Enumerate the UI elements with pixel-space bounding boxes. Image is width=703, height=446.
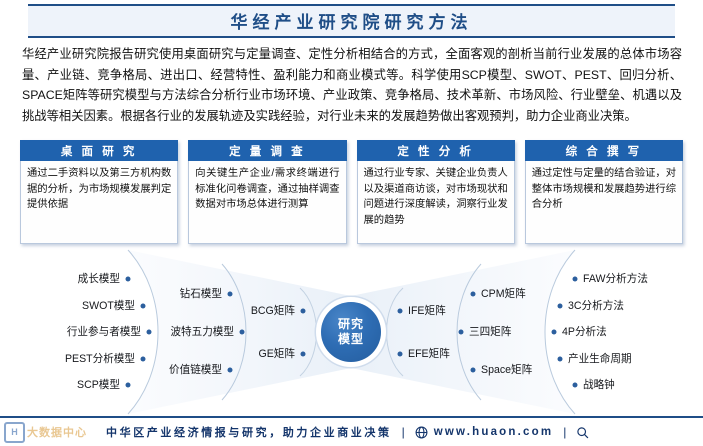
node-inner-right-3[interactable]: Space矩阵 <box>481 364 532 376</box>
title-rule-top <box>28 4 675 6</box>
method-card-desk-research[interactable]: 桌 面 研 究 通过二手资料以及第三方机构数据的分析，为市场规模发展判定提供依据 <box>20 140 178 244</box>
node-dot <box>147 330 152 335</box>
hub-label-line1: 研究 <box>338 317 364 332</box>
footer-bar: H 大数据中心 中华区产业经济情报与研究，助力企业商业决策 | www.huao… <box>0 416 703 446</box>
card-body: 通过行业专家、关键企业负责人以及渠道商访谈，对市场现状和问题进行深度解读，洞察行… <box>357 161 515 244</box>
node-core-right-2[interactable]: EFE矩阵 <box>408 348 450 360</box>
card-body: 通过二手资料以及第三方机构数据的分析，为市场规模发展判定提供依据 <box>20 161 178 244</box>
node-inner-left-2[interactable]: 波特五力模型 <box>170 326 234 338</box>
node-dot <box>141 357 146 362</box>
node-dot <box>301 352 306 357</box>
node-outer-right-5[interactable]: 战略钟 <box>583 379 615 391</box>
node-dot <box>228 368 233 373</box>
node-outer-left-2[interactable]: SWOT模型 <box>82 300 135 312</box>
card-title: 综 合 撰 写 <box>525 140 683 161</box>
card-body: 通过定性与定量的结合验证，对整体市场规模和发展趋势进行综合分析 <box>525 161 683 244</box>
node-dot <box>240 330 245 335</box>
node-dot <box>558 304 563 309</box>
card-title: 定 性 分 析 <box>357 140 515 161</box>
node-dot <box>398 352 403 357</box>
node-dot <box>558 357 563 362</box>
title-rule-bottom <box>28 36 675 38</box>
node-dot <box>573 383 578 388</box>
card-body: 向关键生产企业/需求终端进行标准化问卷调查，通过抽样调查数据对市场总体进行测算 <box>188 161 346 244</box>
node-outer-left-4[interactable]: PEST分析模型 <box>65 353 135 365</box>
footer-separator-2: | <box>563 425 566 439</box>
node-dot <box>459 330 464 335</box>
method-card-quantitative-survey[interactable]: 定 量 调 查 向关键生产企业/需求终端进行标准化问卷调查，通过抽样调查数据对市… <box>188 140 346 244</box>
footer-url[interactable]: www.huaon.com <box>434 426 554 438</box>
node-inner-left-3[interactable]: 价值链模型 <box>169 364 222 376</box>
node-dot <box>471 292 476 297</box>
node-dot <box>398 309 403 314</box>
node-outer-left-1[interactable]: 成长模型 <box>78 273 120 285</box>
node-core-right-1[interactable]: IFE矩阵 <box>408 305 446 317</box>
globe-icon <box>415 426 428 439</box>
node-dot <box>471 368 476 373</box>
node-inner-right-2[interactable]: 三四矩阵 <box>469 326 511 338</box>
node-inner-right-1[interactable]: CPM矩阵 <box>481 288 526 300</box>
footer-tagline: 中华区产业经济情报与研究，助力企业商业决策 <box>106 424 392 440</box>
node-outer-right-4[interactable]: 产业生命周期 <box>568 353 632 365</box>
node-dot <box>228 292 233 297</box>
node-core-left-1[interactable]: BCG矩阵 <box>251 305 295 317</box>
card-title: 桌 面 研 究 <box>20 140 178 161</box>
brand-logo[interactable]: H 大数据中心 <box>4 423 104 442</box>
center-hub[interactable]: 研究 模型 <box>321 302 381 362</box>
node-dot <box>552 330 557 335</box>
logo-icon: H <box>4 422 25 443</box>
infographic-page: 华经产业研究院研究方法 华经产业研究院报告研究使用桌面研究与定量调查、定性分析相… <box>0 0 703 446</box>
node-dot <box>126 383 131 388</box>
search-icon[interactable] <box>576 426 589 439</box>
node-outer-left-5[interactable]: SCP模型 <box>77 379 120 391</box>
page-title: 华经产业研究院研究方法 <box>0 8 703 33</box>
node-dot <box>573 277 578 282</box>
node-dot <box>141 304 146 309</box>
method-card-qualitative-analysis[interactable]: 定 性 分 析 通过行业专家、关键企业负责人以及渠道商访谈，对市场现状和问题进行… <box>357 140 515 244</box>
hub-label-line2: 模型 <box>338 332 364 347</box>
research-model-diagram: 成长模型 SWOT模型 行业参与者模型 PEST分析模型 SCP模型 钻石模型 … <box>0 248 703 416</box>
node-dot <box>301 309 306 314</box>
node-outer-right-1[interactable]: FAW分析方法 <box>583 273 648 285</box>
intro-paragraph: 华经产业研究院报告研究使用桌面研究与定量调查、定性分析相结合的方式，全面客观的剖… <box>22 44 682 126</box>
node-outer-right-3[interactable]: 4P分析法 <box>562 326 607 338</box>
method-cards: 桌 面 研 究 通过二手资料以及第三方机构数据的分析，为市场规模发展判定提供依据… <box>20 140 683 244</box>
node-core-left-2[interactable]: GE矩阵 <box>259 348 296 360</box>
logo-wordmark: 大数据中心 <box>27 424 87 440</box>
node-outer-right-2[interactable]: 3C分析方法 <box>568 300 624 312</box>
method-card-comprehensive-writing[interactable]: 综 合 撰 写 通过定性与定量的结合验证，对整体市场规模和发展趋势进行综合分析 <box>525 140 683 244</box>
footer-separator-1: | <box>402 425 405 439</box>
card-title: 定 量 调 查 <box>188 140 346 161</box>
node-inner-left-1[interactable]: 钻石模型 <box>180 288 222 300</box>
node-outer-left-3[interactable]: 行业参与者模型 <box>67 326 141 338</box>
node-dot <box>126 277 131 282</box>
